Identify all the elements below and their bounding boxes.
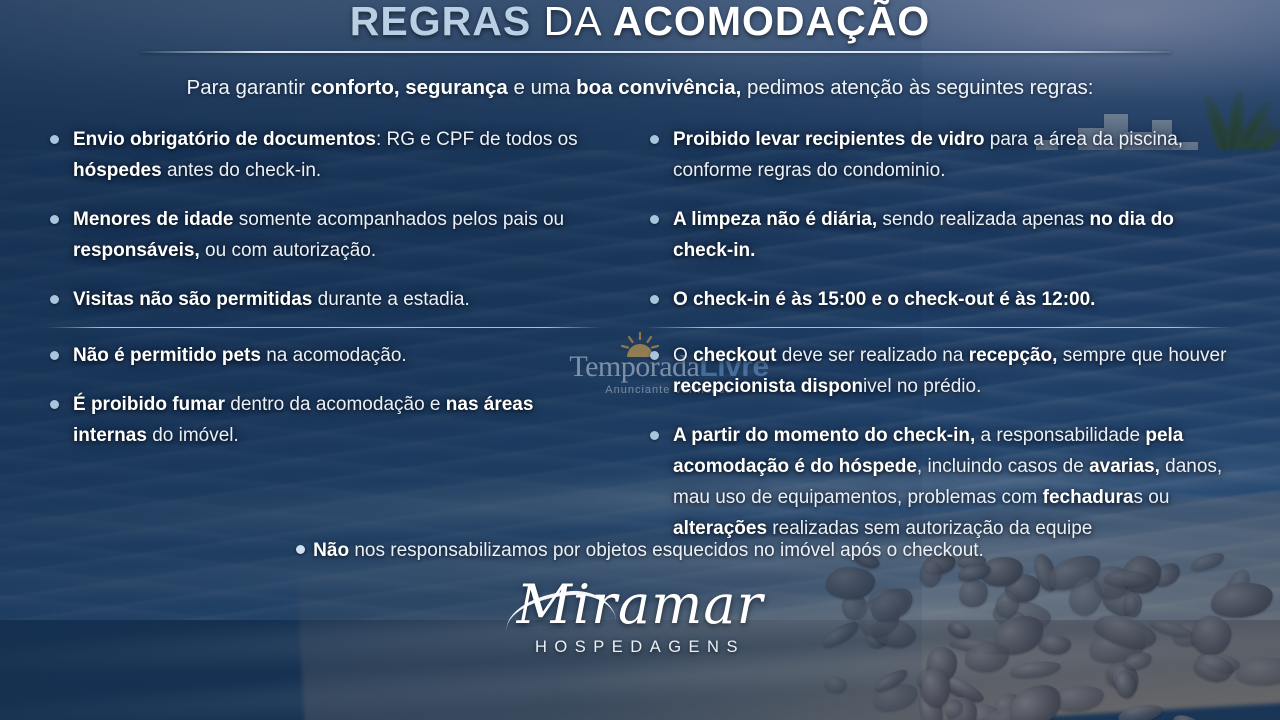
rule-spacer bbox=[46, 371, 606, 389]
title-part-regras: REGRAS bbox=[350, 0, 531, 44]
body-text: pedimos atenção às seguintes regras: bbox=[741, 76, 1093, 99]
body-text: : RG e CPF de todos os bbox=[376, 129, 578, 150]
emphasis-text: Envio obrigatório de documentos bbox=[73, 129, 376, 150]
emphasis-text: O check-in é às 15:00 e o check-out é às… bbox=[673, 289, 1095, 310]
emphasis-text: Não é permitido pets bbox=[73, 345, 261, 366]
brand-logo: Miramar HOSPEDAGENS bbox=[0, 576, 1280, 657]
body-text: , incluindo casos de bbox=[917, 456, 1089, 477]
emphasis-text: recepção, bbox=[969, 345, 1058, 366]
bullet-dot-icon bbox=[650, 351, 659, 360]
logo-name: Miramar bbox=[0, 576, 1280, 634]
rule-pets: Não é permitido pets na acomodação. bbox=[46, 340, 606, 371]
emphasis-text: fechadura bbox=[1043, 487, 1134, 508]
title-divider bbox=[140, 51, 1172, 53]
body-text: sendo realizada apenas bbox=[877, 209, 1089, 230]
body-text: sempre que houver bbox=[1057, 345, 1226, 366]
rule-divider bbox=[46, 327, 602, 328]
subtitle-text: Para garantir conforto, segurança e uma … bbox=[0, 76, 1280, 100]
body-text: Para garantir bbox=[187, 76, 311, 99]
bullet-dot-icon bbox=[650, 295, 659, 304]
rule-checkout-recepcao: O checkout deve ser realizado na recepçã… bbox=[646, 340, 1236, 402]
rule-documentos: Envio obrigatório de documentos: RG e CP… bbox=[46, 124, 606, 186]
emphasis-text: alterações bbox=[673, 518, 767, 539]
rules-column-left: Envio obrigatório de documentos: RG e CP… bbox=[46, 124, 606, 451]
poster-content: REGRAS DA ACOMODAÇÃO Para garantir confo… bbox=[0, 0, 1280, 720]
emphasis-text: hóspedes bbox=[73, 160, 162, 181]
body-text: ou com autorização. bbox=[200, 240, 376, 261]
body-text: antes do check-in. bbox=[162, 160, 321, 181]
bullet-dot-icon bbox=[50, 400, 59, 409]
accommodation-rules-poster: TemporadaLivre Anunciante Verificado REG… bbox=[0, 0, 1280, 720]
bullet-dot-icon bbox=[650, 135, 659, 144]
rule-menores: Menores de idade somente acompanhados pe… bbox=[46, 204, 606, 266]
body-text: a responsabilidade bbox=[975, 425, 1145, 446]
bullet-dot-icon bbox=[296, 545, 305, 554]
emphasis-text: avarias, bbox=[1089, 456, 1160, 477]
page-title: REGRAS DA ACOMODAÇÃO bbox=[0, 0, 1280, 45]
emphasis-text: Não bbox=[313, 540, 349, 561]
bullet-dot-icon bbox=[650, 215, 659, 224]
final-rule-text: Não nos responsabilizamos por objetos es… bbox=[0, 540, 1280, 562]
body-text: nos responsabilizamos por objetos esquec… bbox=[349, 540, 984, 561]
rule-spacer bbox=[646, 266, 1236, 284]
bullet-dot-icon bbox=[50, 351, 59, 360]
rule-spacer bbox=[646, 402, 1236, 420]
body-text: e uma bbox=[508, 76, 576, 99]
rule-divider bbox=[646, 327, 1232, 328]
bullet-dot-icon bbox=[50, 295, 59, 304]
title-part-acomodacao: ACOMODAÇÃO bbox=[613, 0, 930, 44]
emphasis-text: conforto, segurança bbox=[311, 76, 508, 99]
bullet-dot-icon bbox=[650, 431, 659, 440]
rule-limpeza: A limpeza não é diária, sendo realizada … bbox=[646, 204, 1236, 266]
rule-vidro: Proibido levar recipientes de vidro para… bbox=[646, 124, 1236, 186]
bullet-dot-icon bbox=[50, 215, 59, 224]
title-part-da: DA bbox=[544, 0, 601, 44]
emphasis-text: Visitas não são permitidas bbox=[73, 289, 312, 310]
rule-spacer bbox=[646, 186, 1236, 204]
body-text: somente acompanhados pelos pais ou bbox=[234, 209, 565, 230]
emphasis-text: Menores de idade bbox=[73, 209, 234, 230]
emphasis-text: A limpeza não é diária, bbox=[673, 209, 877, 230]
rule-fumar: É proibido fumar dentro da acomodação e … bbox=[46, 389, 606, 451]
body-text: na acomodação. bbox=[261, 345, 407, 366]
body-text: s ou bbox=[1133, 487, 1169, 508]
emphasis-text: A partir do momento do check-in, bbox=[673, 425, 975, 446]
rule-horarios: O check-in é às 15:00 e o check-out é às… bbox=[646, 284, 1236, 315]
logo-tagline: HOSPEDAGENS bbox=[0, 638, 1280, 657]
body-text: ivel no prédio. bbox=[863, 376, 981, 397]
rule-spacer bbox=[46, 186, 606, 204]
body-text: do imóvel. bbox=[147, 425, 239, 446]
body-text: realizadas sem autorização da equipe bbox=[767, 518, 1092, 539]
body-text: deve ser realizado na bbox=[776, 345, 968, 366]
rule-responsabilidade: A partir do momento do check-in, a respo… bbox=[646, 420, 1236, 544]
emphasis-text: recepcionista dispon bbox=[673, 376, 863, 397]
rules-column-right: Proibido levar recipientes de vidro para… bbox=[646, 124, 1236, 544]
emphasis-text: É proibido fumar bbox=[73, 394, 225, 415]
body-text: dentro da acomodação e bbox=[225, 394, 446, 415]
emphasis-text: boa convivência, bbox=[576, 76, 741, 99]
emphasis-text: responsáveis, bbox=[73, 240, 200, 261]
rule-visitas: Visitas não são permitidas durante a est… bbox=[46, 284, 606, 315]
emphasis-text: checkout bbox=[693, 345, 776, 366]
body-text: O bbox=[673, 345, 693, 366]
body-text: durante a estadia. bbox=[312, 289, 469, 310]
bullet-dot-icon bbox=[50, 135, 59, 144]
emphasis-text: Proibido levar recipientes de vidro bbox=[673, 129, 985, 150]
rule-spacer bbox=[46, 266, 606, 284]
